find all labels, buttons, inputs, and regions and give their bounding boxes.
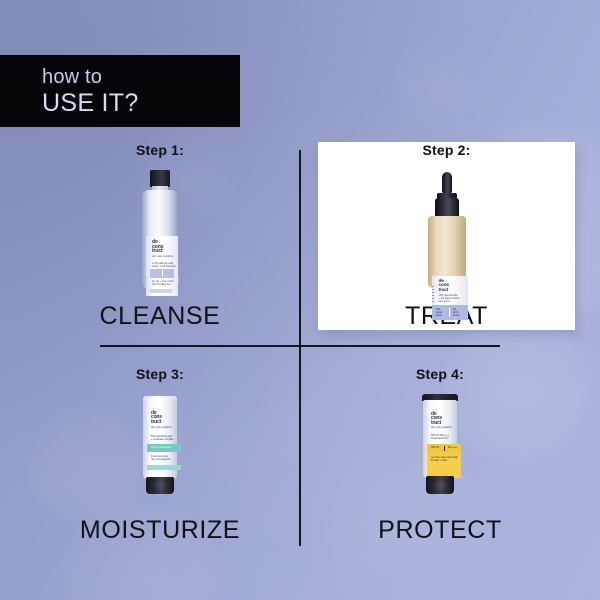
- step-1-label: Step 1:: [136, 142, 184, 158]
- label-accent-band: SPF 50 PA ++++: [427, 444, 461, 453]
- step-3-product-slot: de cons truct skin care solutions 5% hya…: [139, 394, 181, 494]
- step-3-action-label: MOISTURIZE: [80, 516, 240, 545]
- step-4-product-slot: de cons truct skin care solutions SPF 50…: [419, 394, 461, 494]
- step-2-cell[interactable]: Step 2: de cons truct 10% niacina: [320, 142, 573, 331]
- label-detail-rows: for oily + acne prone ph 5.5 sulfate fre…: [152, 280, 174, 287]
- dropper-cap: [435, 198, 459, 218]
- step-2-label: Step 2:: [422, 142, 470, 158]
- label-footer-band: [147, 465, 181, 470]
- product-description: 10% niacinamide + 1% alpha arbutin face …: [439, 294, 460, 304]
- step-3-cell[interactable]: Step 3: de cons truct skin care solution…: [40, 366, 280, 545]
- serum-label: de cons truct 10% niacinamide + 1% alpha…: [432, 276, 468, 320]
- band-left-text: 10% niacin- amide: [436, 308, 443, 317]
- brand-tagline: skin care solutions: [152, 255, 173, 258]
- brand-tagline: skin care solutions: [431, 426, 452, 429]
- step-3-label: Step 3:: [136, 366, 184, 382]
- label-accent-band: [150, 269, 174, 278]
- tube-body: de cons truct skin care solutions SPF 50…: [423, 400, 457, 478]
- bottle-body: de cons truct skin care solutions 1.5% s…: [142, 190, 178, 288]
- serum-body: de cons truct 10% niacinamide + 1% alpha…: [428, 216, 466, 288]
- dropper-bulb: [442, 172, 452, 194]
- title-line-1: how to: [42, 66, 240, 89]
- band-right-text: PA ++++: [448, 446, 457, 449]
- sunscreen-tube-image: de cons truct skin care solutions SPF 50…: [419, 394, 461, 494]
- tube-cap: [426, 476, 454, 494]
- vertical-divider: [299, 150, 301, 546]
- product-description: 1.5% salicylic acid AHA + LHA cleanser: [152, 262, 176, 268]
- step-4-label: Step 4:: [416, 366, 464, 382]
- title-line-2: USE IT?: [42, 89, 240, 117]
- label-accent-band: 10% niacin- amide 1% alpha arbutin: [432, 305, 468, 320]
- band-right-text: 1% alpha arbutin: [453, 308, 460, 317]
- product-description: 5% hyaluronic acid + ceramide complex: [151, 435, 173, 441]
- moisturizer-tube-image: de cons truct skin care solutions 5% hya…: [139, 396, 181, 494]
- label-accent-band: oil free moisturizer: [147, 444, 181, 452]
- band-left-text: SPF 50: [431, 446, 439, 449]
- label-detail-rows: for all skin types non comedogenic: [151, 455, 170, 462]
- brand-mark: de cons truct: [431, 412, 442, 425]
- step-4-action-label: PROTECT: [378, 516, 502, 545]
- brand-tagline: skin care solutions: [151, 426, 172, 429]
- bottle-label: de cons truct skin care solutions 1.5% s…: [146, 236, 178, 296]
- brand-mark: de cons truct: [152, 240, 163, 254]
- label-side-ticks: [432, 286, 434, 304]
- step-1-action-label: CLEANSE: [100, 302, 221, 331]
- block-text: no white cast matte finish for face + ne…: [431, 456, 461, 462]
- product-description: SPF 50 PA++++ broad spectrum: [431, 434, 449, 440]
- brand-mark: de cons truct: [439, 280, 449, 293]
- label-footer-band: [150, 289, 172, 293]
- step-1-product-slot: de cons truct skin care solutions 1.5% s…: [140, 168, 180, 288]
- title-banner: how to USE IT?: [0, 55, 240, 127]
- label-highlight-block: no white cast matte finish for face + ne…: [427, 453, 461, 478]
- band-text: oil free moisturizer: [151, 446, 171, 449]
- tube-body: de cons truct skin care solutions 5% hya…: [143, 399, 177, 479]
- step-4-cell[interactable]: Step 4: de cons truct skin care solution…: [320, 366, 560, 545]
- step-1-cell[interactable]: Step 1: de cons truct skin care solution…: [40, 142, 280, 331]
- serum-dropper-bottle-image: de cons truct 10% niacinamide + 1% alpha…: [425, 172, 469, 288]
- how-to-use-it-infographic: how to USE IT? Step 1: de cons truct: [0, 0, 600, 600]
- brand-mark: de cons truct: [151, 411, 162, 424]
- step-2-product-slot: de cons truct 10% niacinamide + 1% alpha…: [425, 170, 469, 288]
- bottle-cap: [150, 170, 170, 187]
- cleanser-bottle-image: de cons truct skin care solutions 1.5% s…: [140, 170, 180, 288]
- tube-cap: [146, 477, 174, 494]
